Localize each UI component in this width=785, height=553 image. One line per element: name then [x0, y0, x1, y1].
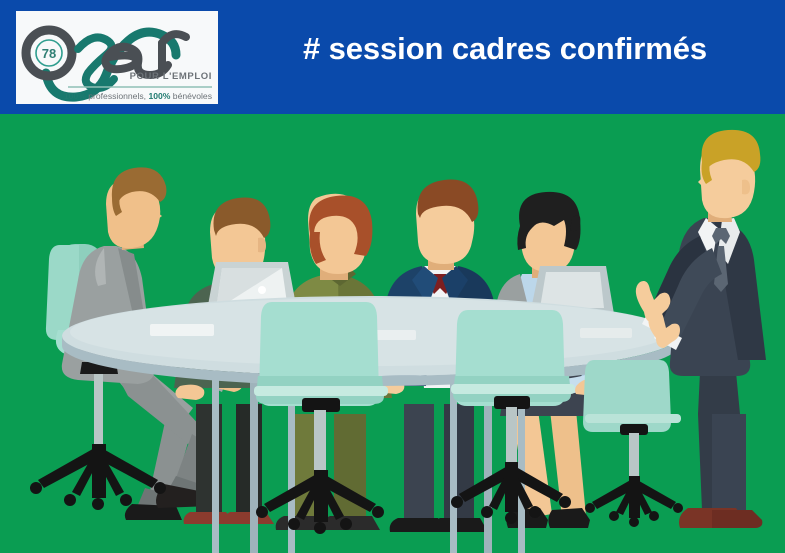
hand	[175, 385, 204, 400]
slide-canvas: 78 POUR L'EMPLOI 100% professionnels, 10…	[0, 0, 785, 553]
paper	[580, 328, 632, 338]
logo-tagline-word1: professionnels,	[86, 91, 149, 101]
oser-logo: 78 POUR L'EMPLOI 100% professionnels, 10…	[16, 11, 218, 104]
logo-subtitle: POUR L'EMPLOI	[130, 71, 212, 82]
shoe	[548, 508, 590, 528]
logo-department-number: 78	[42, 46, 56, 61]
logo-tagline: 100% professionnels, 100% bénévoles	[64, 91, 212, 101]
meeting-illustration	[0, 114, 785, 553]
shoe	[432, 518, 488, 532]
logo-tagline-word2: bénévoles	[170, 91, 212, 101]
paper	[150, 324, 214, 336]
logo-tagline-pct2: 100%	[148, 91, 170, 101]
page-title: # session cadres confirmés	[240, 27, 770, 71]
logo-tagline-pct1: 100%	[64, 91, 86, 101]
